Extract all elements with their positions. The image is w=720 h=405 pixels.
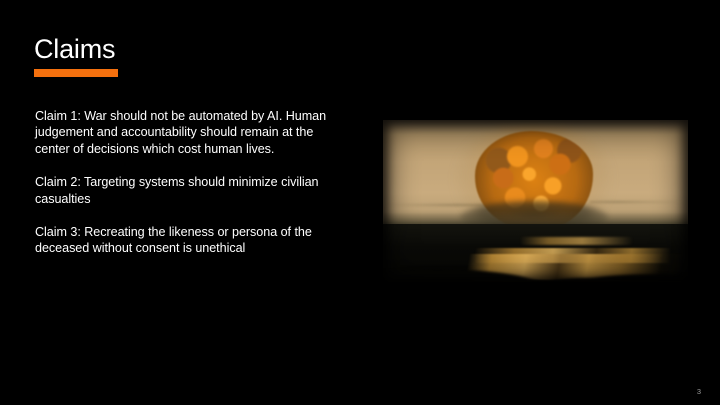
list-item: Claim 3: Recreating the likeness or pers… bbox=[35, 224, 335, 257]
slide: Claims Claim 1: War should not be automa… bbox=[0, 0, 720, 405]
explosion-photo bbox=[383, 120, 688, 282]
list-item: Claim 2: Targeting systems should minimi… bbox=[35, 174, 335, 207]
list-item: Claim 1: War should not be automated by … bbox=[35, 108, 335, 157]
page-title: Claims bbox=[34, 33, 115, 65]
claims-list: Claim 1: War should not be automated by … bbox=[35, 108, 335, 257]
title-accent-rule bbox=[34, 69, 118, 77]
foreground-silhouettes bbox=[383, 243, 688, 282]
page-number: 3 bbox=[697, 387, 701, 396]
